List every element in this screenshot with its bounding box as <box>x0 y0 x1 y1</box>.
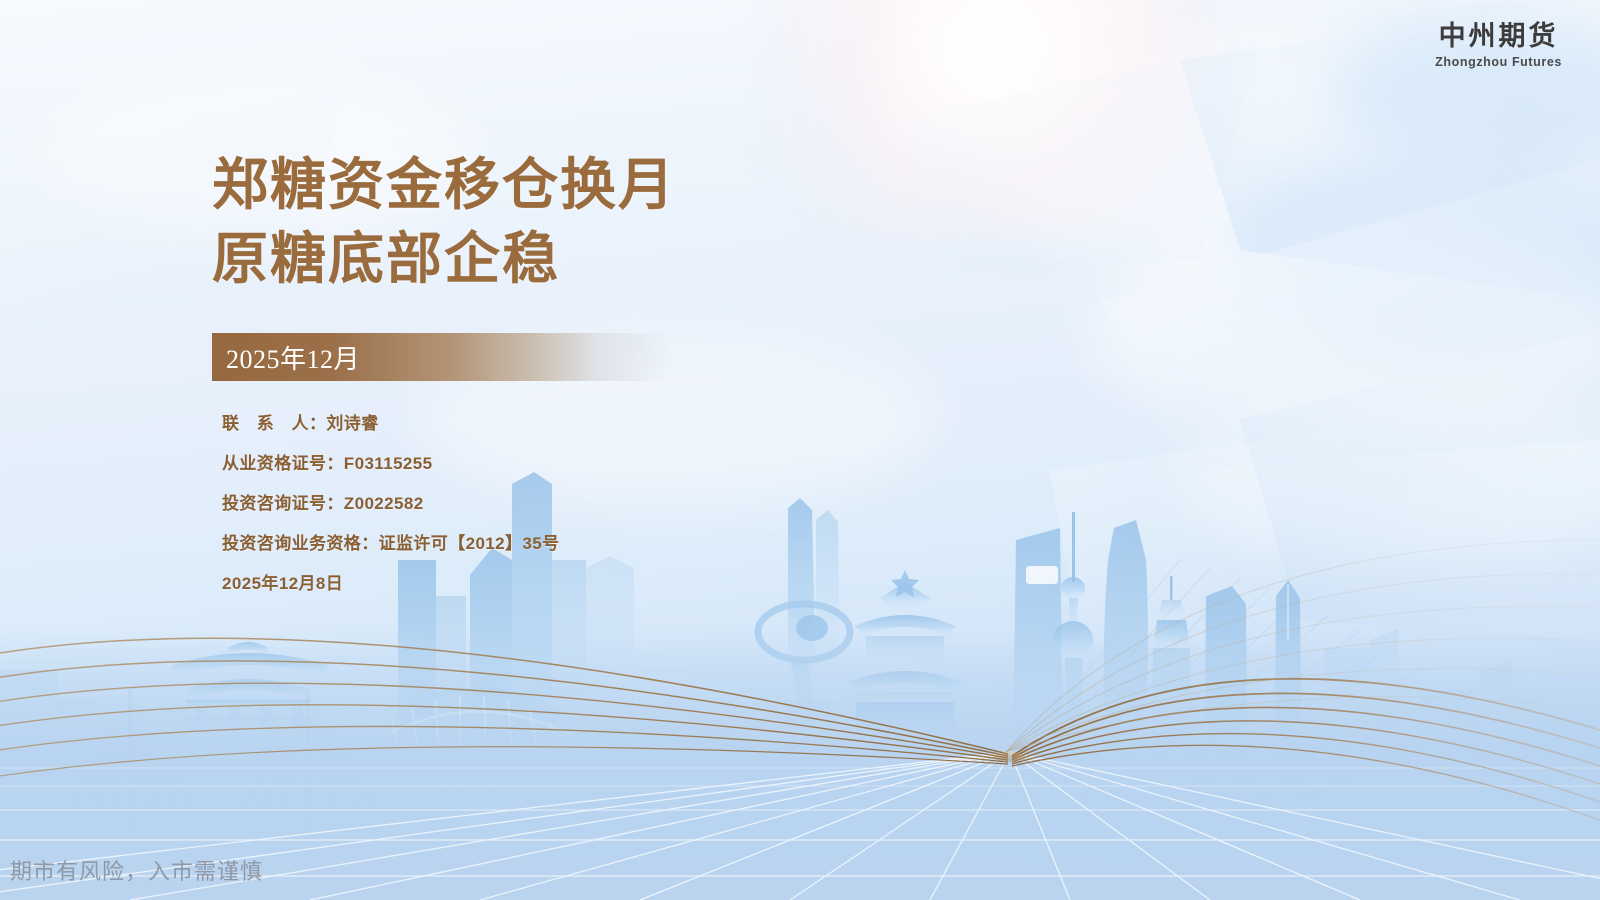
page-title: 郑糖资金移仓换月原糖底部企稳 <box>212 148 676 296</box>
company-logo: 中州期货 Zhongzhou Futures <box>1435 22 1562 69</box>
logo-text-cn: 中州期货 <box>1435 22 1562 52</box>
cloud-shape <box>1230 150 1600 360</box>
sun-glow-icon <box>760 0 1230 240</box>
contact-line-date: 2025年12月8日 <box>222 564 560 604</box>
risk-disclaimer: 期市有风险，入市需谨慎 <box>10 854 263 886</box>
cloud-shape <box>1090 230 1600 430</box>
title-line-1: 郑糖资金移仓换月 <box>212 153 676 216</box>
sun-ray-icon <box>859 0 1161 277</box>
contact-line-practice: 从业资格证号：F03115255 <box>222 444 560 484</box>
contact-info-block: 联 系 人：刘诗睿 从业资格证号：F03115255 投资咨询证号：Z00225… <box>222 404 560 604</box>
date-banner-label: 2025年12月 <box>212 339 360 376</box>
presentation-cover-slide: 郑糖资金移仓换月原糖底部企稳 2025年12月 联 系 人：刘诗睿 从业资格证号… <box>0 0 1600 900</box>
cloud-shape <box>1180 380 1600 570</box>
title-line-2: 原糖底部企稳 <box>212 227 560 290</box>
cloud-shape <box>980 40 1500 270</box>
logo-text-en: Zhongzhou Futures <box>1435 55 1562 69</box>
date-banner: 2025年12月 <box>212 333 672 381</box>
contact-line-license: 投资咨询业务资格：证监许可【2012】35号 <box>222 524 560 564</box>
contact-line-person: 联 系 人：刘诗睿 <box>222 404 560 444</box>
contact-line-advisory: 投资咨询证号：Z0022582 <box>222 484 560 524</box>
